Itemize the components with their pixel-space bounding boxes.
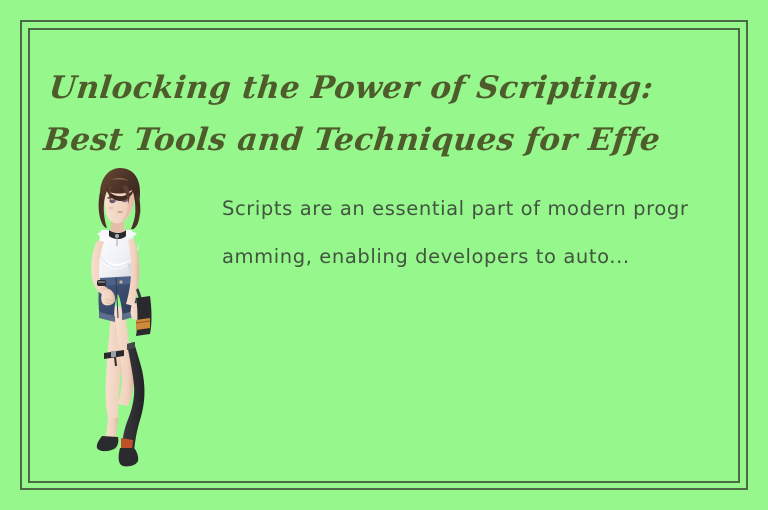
anime-girl-illustration: [78, 168, 164, 468]
body-text: Scripts are an essential part of modern …: [222, 185, 696, 281]
quote-card: Unlocking the Power of Scripting: Best T…: [0, 0, 768, 510]
page-title: Unlocking the Power of Scripting: Best T…: [41, 62, 692, 166]
